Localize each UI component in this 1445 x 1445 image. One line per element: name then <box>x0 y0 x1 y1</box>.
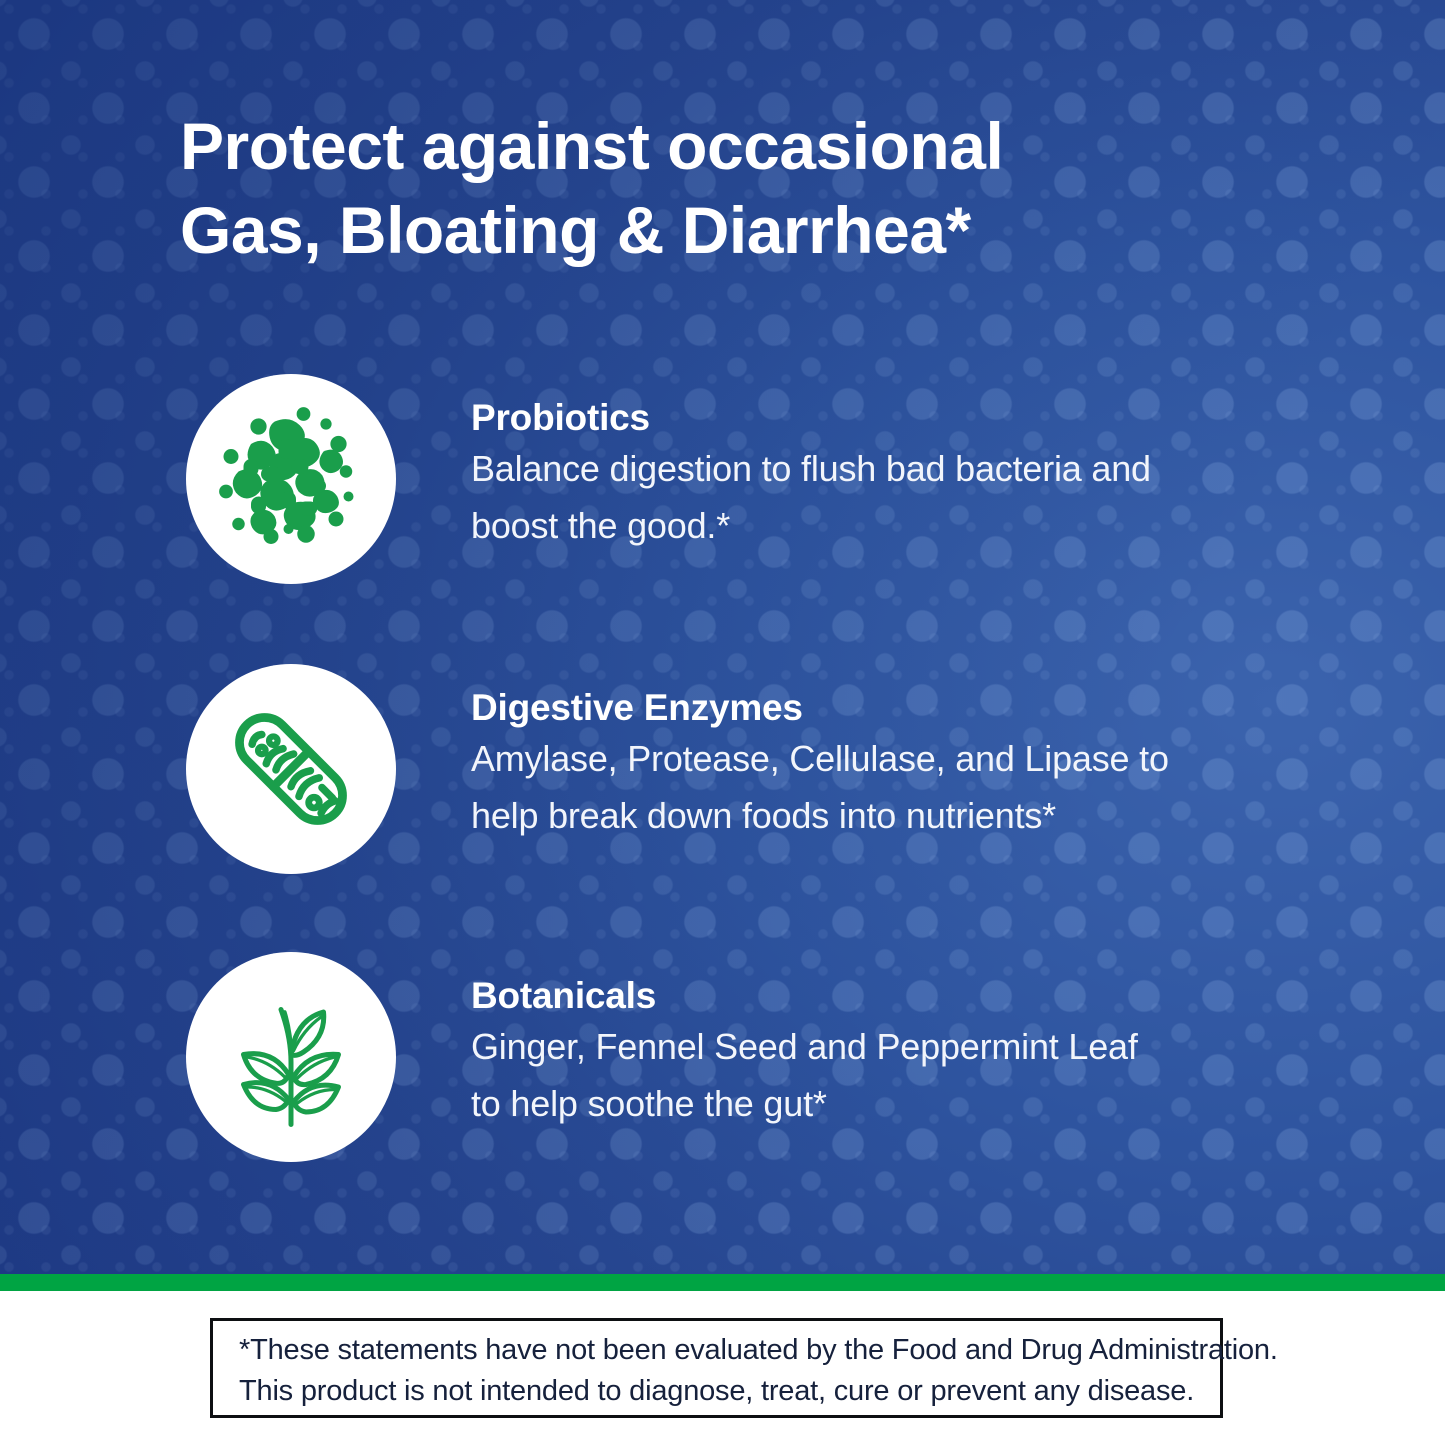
botanicals-text-block: Botanicals Ginger, Fennel Seed and Peppe… <box>471 974 1311 1132</box>
digestive-enzymes-icon-badge <box>186 664 396 874</box>
probiotics-icon-badge <box>186 374 396 584</box>
feature-description: Balance digestion to flush bad bacteria … <box>471 440 1311 554</box>
feature-description-line-1: Balance digestion to flush bad bacteria … <box>471 440 1311 497</box>
probiotics-text-block: Probiotics Balance digestion to flush ba… <box>471 396 1311 554</box>
disclaimer-text: *These statements have not been evaluate… <box>239 1330 1204 1412</box>
headline-line-2: Gas, Bloating & Diarrhea* <box>180 188 1240 272</box>
feature-description-line-2: boost the good.* <box>471 497 1311 554</box>
digestive-enzymes-text-block: Digestive Enzymes Amylase, Protease, Cel… <box>471 686 1311 844</box>
botanicals-icon-badge <box>186 952 396 1162</box>
feature-title: Botanicals <box>471 974 1311 1018</box>
feature-description-line-2: help break down foods into nutrients* <box>471 787 1311 844</box>
feature-title: Probiotics <box>471 396 1311 440</box>
headline-line-1: Protect against occasional <box>180 104 1240 188</box>
feature-description: Ginger, Fennel Seed and Peppermint Leaf … <box>471 1018 1311 1132</box>
feature-row-botanicals: Botanicals Ginger, Fennel Seed and Peppe… <box>186 952 1326 1164</box>
botanical-plant-icon <box>216 982 366 1132</box>
feature-title: Digestive Enzymes <box>471 686 1311 730</box>
headline: Protect against occasional Gas, Bloating… <box>180 104 1240 272</box>
feature-description: Amylase, Protease, Cellulase, and Lipase… <box>471 730 1311 844</box>
disclaimer-line-1: *These statements have not been evaluate… <box>239 1330 1204 1371</box>
microbe-cluster-icon <box>216 404 366 554</box>
feature-description-line-1: Ginger, Fennel Seed and Peppermint Leaf <box>471 1018 1311 1075</box>
enzyme-capsule-icon <box>216 694 366 844</box>
product-benefits-infographic: Protect against occasional Gas, Bloating… <box>0 0 1445 1445</box>
disclaimer-line-2: This product is not intended to diagnose… <box>239 1371 1204 1412</box>
disclaimer-box: *These statements have not been evaluate… <box>210 1318 1223 1418</box>
feature-row-digestive-enzymes: Digestive Enzymes Amylase, Protease, Cel… <box>186 664 1326 876</box>
feature-row-probiotics: Probiotics Balance digestion to flush ba… <box>186 374 1326 586</box>
feature-description-line-2: to help soothe the gut* <box>471 1075 1311 1132</box>
green-divider-bar <box>0 1274 1445 1291</box>
feature-description-line-1: Amylase, Protease, Cellulase, and Lipase… <box>471 730 1311 787</box>
